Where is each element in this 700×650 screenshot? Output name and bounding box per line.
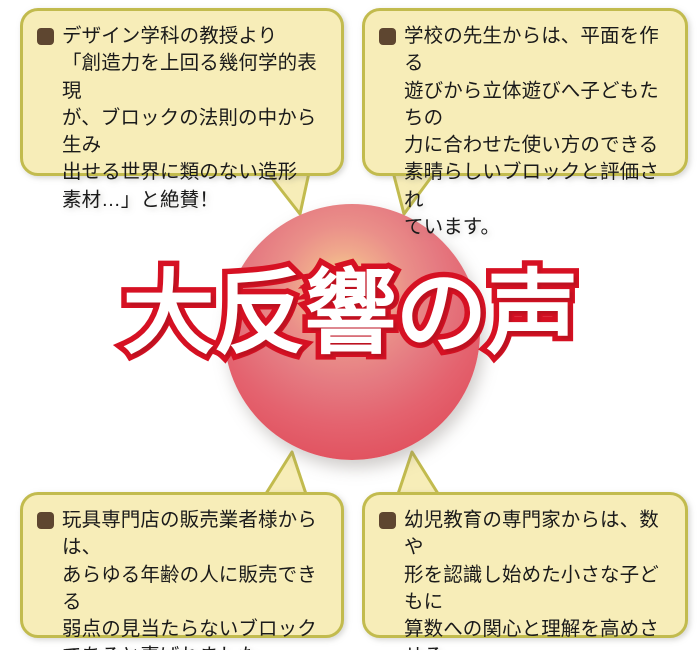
square-bullet-icon [37,28,54,45]
testimonial-bubble-bottom-left[interactable]: 玩具専門店の販売業者様からは、 あらゆる年齢の人に販売できる 弱点の見当たらない… [20,492,344,638]
square-bullet-icon [379,28,396,45]
testimonial-bubble-top-left[interactable]: デザイン学科の教授より 「創造力を上回る幾何学的表現 が、ブロックの法則の中から… [20,8,344,176]
square-bullet-icon [379,512,396,529]
square-bullet-icon [37,512,54,529]
poster-canvas: 大反響の声 デザイン学科の教授より 「創造力を上回る幾何学的表現 が、ブロックの… [0,0,700,650]
testimonial-bubble-top-right[interactable]: 学校の先生からは、平面を作る 遊びから立体遊びへ子どもたちの 力に合わせた使い方… [362,8,688,176]
bubble-content: 幼児教育の専門家からは、数や 形を認識し始めた小さな子どもに 算数への関心と理解… [379,507,671,650]
testimonial-text: 玩具専門店の販売業者様からは、 あらゆる年齢の人に販売できる 弱点の見当たらない… [62,507,327,650]
bubble-content: 玩具専門店の販売業者様からは、 あらゆる年齢の人に販売できる 弱点の見当たらない… [37,507,327,650]
bubble-content: 学校の先生からは、平面を作る 遊びから立体遊びへ子どもたちの 力に合わせた使い方… [379,23,671,241]
testimonial-text: デザイン学科の教授より 「創造力を上回る幾何学的表現 が、ブロックの法則の中から… [62,23,327,214]
testimonial-bubble-bottom-right[interactable]: 幼児教育の専門家からは、数や 形を認識し始めた小さな子どもに 算数への関心と理解… [362,492,688,638]
page-title: 大反響の声 [0,268,700,360]
bubble-content: デザイン学科の教授より 「創造力を上回る幾何学的表現 が、ブロックの法則の中から… [37,23,327,214]
testimonial-text: 学校の先生からは、平面を作る 遊びから立体遊びへ子どもたちの 力に合わせた使い方… [404,23,671,241]
testimonial-text: 幼児教育の専門家からは、数や 形を認識し始めた小さな子どもに 算数への関心と理解… [404,507,671,650]
